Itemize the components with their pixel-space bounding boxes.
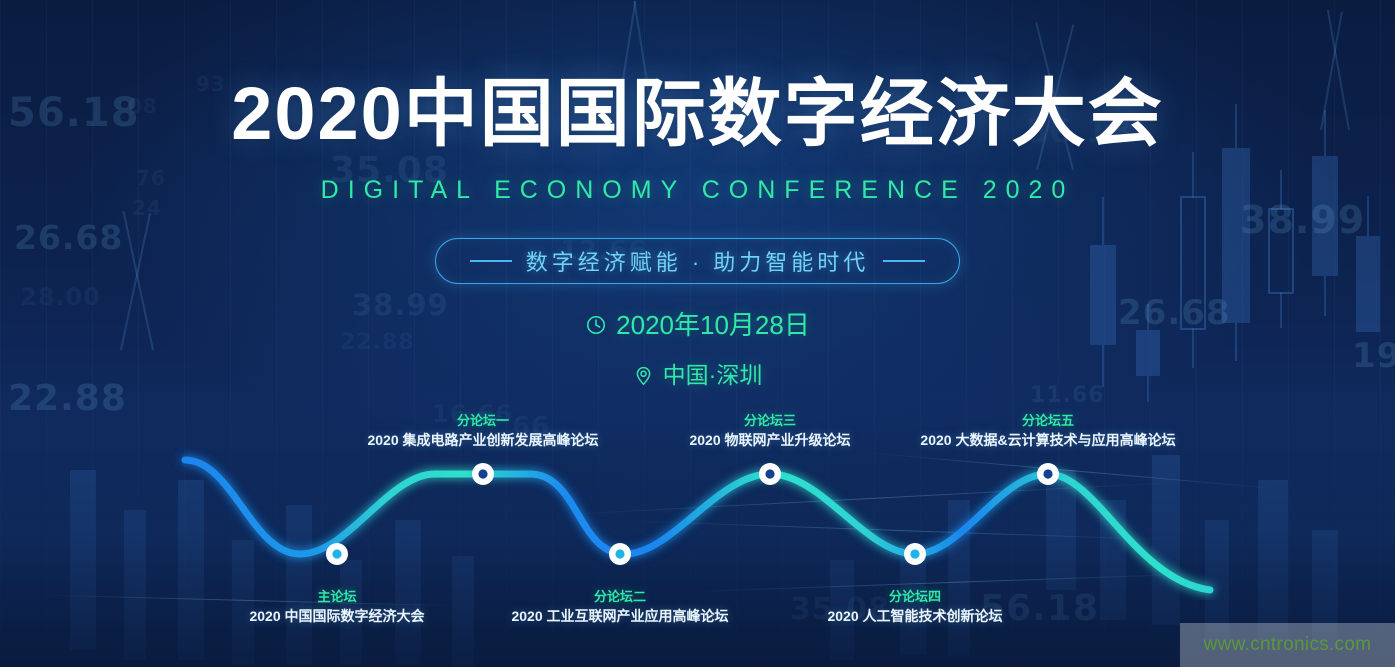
- forum-name: 2020 集成电路产业创新发展高峰论坛: [367, 430, 598, 450]
- tagline-text: 数字经济赋能 · 助力智能时代: [526, 245, 870, 277]
- event-date-text: 2020年10月28日: [616, 309, 810, 341]
- forum-wave-chart: [0, 430, 1395, 600]
- forum-node-center: [1043, 469, 1052, 478]
- forum-name: 2020 中国国际数字经济大会: [249, 606, 424, 626]
- dash-left-icon: [470, 260, 512, 262]
- forum-label-1[interactable]: 主论坛2020 中国国际数字经济大会: [249, 588, 424, 626]
- forum-name: 2020 工业互联网产业应用高峰论坛: [511, 606, 728, 626]
- forum-tag: 分论坛一: [367, 412, 598, 430]
- dash-right-icon: [883, 260, 925, 262]
- forum-name: 2020 物联网产业升级论坛: [689, 430, 850, 450]
- page-subtitle: DIGITAL ECONOMY CONFERENCE 2020: [0, 175, 1395, 205]
- forum-tag: 分论坛四: [827, 588, 1002, 606]
- banner-content: 2020中国国际数字经济大会 DIGITAL ECONOMY CONFERENC…: [0, 0, 1395, 667]
- conference-banner: 56.1826.6822.8838.9926.6819.11.6635.0838…: [0, 0, 1395, 667]
- event-date: 2020年10月28日: [0, 309, 1395, 343]
- forum-label-3[interactable]: 分论坛二2020 工业互联网产业应用高峰论坛: [511, 588, 728, 626]
- map-pin-icon: [633, 365, 654, 386]
- forum-label-2[interactable]: 分论坛一2020 集成电路产业创新发展高峰论坛: [367, 412, 598, 450]
- watermark: www.cntronics.com: [1180, 623, 1395, 667]
- forum-node-center: [332, 549, 341, 558]
- forum-node-center: [615, 549, 624, 558]
- event-location: 中国·深圳: [0, 360, 1395, 393]
- forum-label-6[interactable]: 分论坛五2020 大数据&云计算技术与应用高峰论坛: [920, 412, 1175, 450]
- tagline-pill: 数字经济赋能 · 助力智能时代: [435, 238, 961, 284]
- forum-tag: 主论坛: [249, 588, 424, 606]
- forum-tag: 分论坛三: [689, 412, 850, 430]
- forum-label-5[interactable]: 分论坛四2020 人工智能技术创新论坛: [827, 588, 1002, 626]
- forum-name: 2020 人工智能技术创新论坛: [827, 606, 1002, 626]
- forum-node-center: [765, 469, 774, 478]
- forum-tag: 分论坛五: [920, 412, 1175, 430]
- forum-tag: 分论坛二: [511, 588, 728, 606]
- forum-name: 2020 大数据&云计算技术与应用高峰论坛: [920, 430, 1175, 450]
- watermark-text: www.cntronics.com: [1204, 634, 1372, 656]
- tagline-container: 数字经济赋能 · 助力智能时代: [0, 238, 1395, 284]
- event-location-text: 中国·深圳: [663, 360, 763, 390]
- forum-node-center: [478, 469, 487, 478]
- forum-label-4[interactable]: 分论坛三2020 物联网产业升级论坛: [689, 412, 850, 450]
- clock-icon: [585, 314, 607, 336]
- forum-node-center: [910, 549, 919, 558]
- wave-svg: [0, 430, 1395, 600]
- page-title: 2020中国国际数字经济大会: [0, 72, 1395, 156]
